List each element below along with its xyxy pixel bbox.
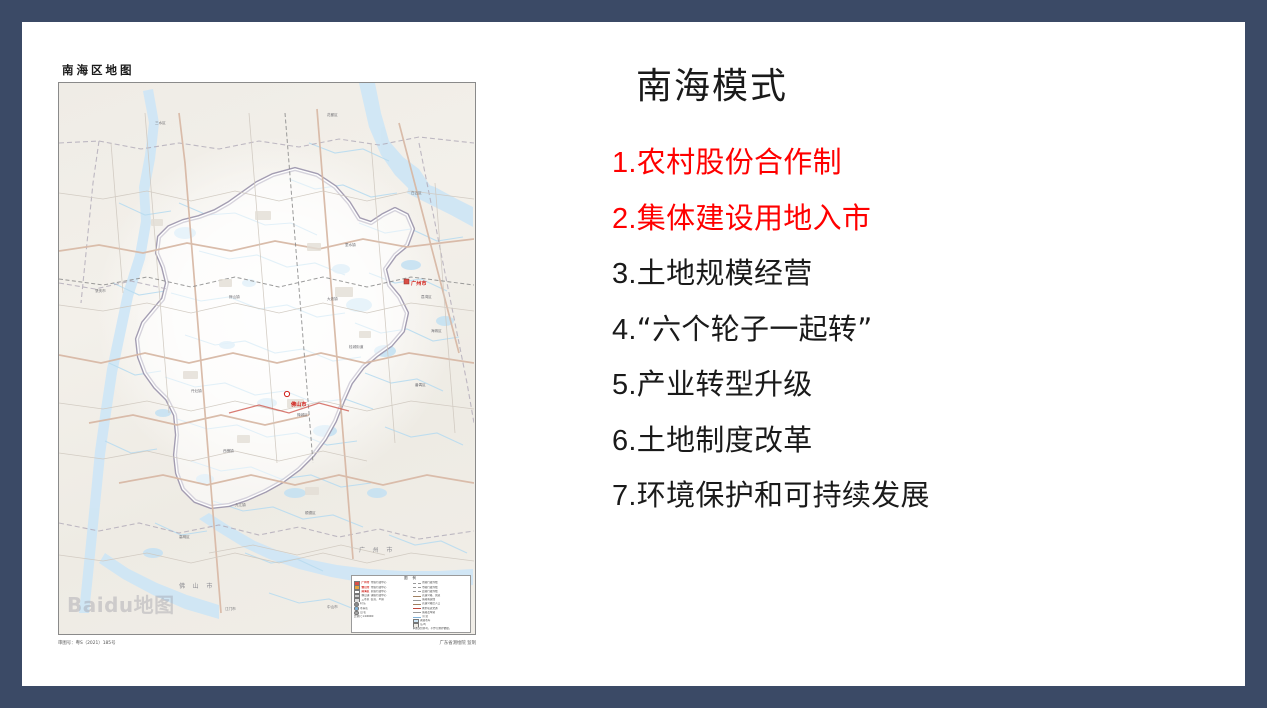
- legend-line-icon: [413, 600, 421, 601]
- list-item-label: 集体建设用地入市: [637, 201, 871, 235]
- map-place-label: 高明区: [179, 535, 190, 540]
- list-item: 7.环境保护和可持续发展: [612, 476, 1210, 516]
- map-place-label: 西樵镇: [223, 449, 234, 454]
- map-legend: 图 例 广州市 市级行政中心 佛山市 市级行政中心: [351, 575, 471, 633]
- map-city-label-guangzhou: 广州市: [411, 280, 427, 287]
- list-item-number: 4.: [612, 314, 637, 346]
- list-item-label: “六个轮子一起转”: [637, 312, 873, 346]
- legend-sublabel: 街道、乡镇: [371, 598, 384, 602]
- points-list: 1.农村股份合作制 2.集体建设用地入市 3.土地规模经营 4.“六个轮子一起转…: [590, 143, 1210, 516]
- list-item-label: 土地制度改革: [637, 423, 813, 457]
- map-place-label: 九江镇: [235, 503, 246, 508]
- map-place-label: 花都区: [327, 113, 338, 118]
- map-city-label-foshan: 佛山市: [291, 401, 307, 408]
- legend-line-icon: [413, 604, 421, 605]
- legend-line-icon: [413, 583, 421, 584]
- map-vector-layer: [59, 83, 474, 633]
- legend-scale-note: 比例尺 1:230000: [354, 615, 410, 619]
- map-place-label: 江门市: [225, 607, 236, 612]
- map-place-label: 肇庆市: [95, 289, 106, 294]
- map-place-label: 狮山镇: [229, 295, 240, 300]
- map-place-label: 禅城区: [297, 413, 308, 418]
- legend-right-column: 省级行政界线 市级行政界线 县级行政界线: [413, 581, 469, 631]
- list-item-number: 7.: [612, 480, 637, 512]
- map-place-label: 白云区: [411, 191, 422, 196]
- baidu-watermark: Baidu地图: [67, 589, 175, 618]
- legend-line-icon: [413, 608, 421, 609]
- map-publisher: 广东省测绘院 监制: [439, 640, 476, 646]
- list-item-number: 1.: [612, 147, 637, 179]
- map-region-label: 佛 山 市: [179, 581, 215, 590]
- list-item-number: 2.: [612, 203, 637, 235]
- map-footer: 审图号：粤S（2021）185号 广东省测绘院 监制: [58, 640, 476, 646]
- map-place-label: 中山市: [327, 605, 338, 610]
- list-item: 1.农村股份合作制: [612, 143, 1210, 183]
- map-figure-title: 南海区地图: [62, 62, 488, 78]
- map-place-label: 海珠区: [431, 329, 442, 334]
- map-place-label: 大沥镇: [327, 297, 338, 302]
- list-item-label: 环境保护和可持续发展: [637, 478, 930, 512]
- list-item: 3.土地规模经营: [612, 254, 1210, 294]
- list-item: 2.集体建设用地入市: [612, 199, 1210, 239]
- list-item-number: 6.: [612, 425, 637, 457]
- legend-line-icon: [413, 617, 421, 618]
- list-item: 6.土地制度改革: [612, 421, 1210, 461]
- map-region-label: 广 州 市: [359, 545, 395, 554]
- map-place-label: 三水区: [155, 121, 166, 126]
- map-place-label: 番禺区: [415, 383, 426, 388]
- legend-line-icon: [413, 591, 421, 592]
- list-item-number: 5.: [612, 369, 637, 401]
- list-item-label: 土地规模经营: [637, 256, 813, 290]
- list-item-label: 农村股份合作制: [637, 145, 842, 179]
- map-place-label: 荔湾区: [421, 295, 432, 300]
- page-title: 南海模式: [636, 64, 1210, 109]
- legend-line-icon: [413, 612, 421, 613]
- slide-canvas: 南海区地图: [22, 22, 1245, 686]
- list-item-number: 3.: [612, 258, 637, 290]
- legend-line-icon: [413, 596, 421, 597]
- map-place-label: 丹灶镇: [191, 389, 202, 394]
- map-place-label: 桂城街道: [349, 345, 363, 350]
- map-image[interactable]: 广州市 佛山市 三水区 花都区 白云区 荔湾区 海珠区 番禺区 肇庆市 高明区 …: [58, 82, 476, 635]
- map-place-label: 里水镇: [345, 243, 356, 248]
- legend-scale-label: 比例尺 1:230000: [354, 615, 373, 619]
- slide-frame: 南海区地图: [0, 0, 1267, 708]
- list-item-label: 产业转型升级: [637, 367, 813, 401]
- legend-left-column: 广州市 市级行政中心 佛山市 市级行政中心 南海区: [354, 581, 410, 631]
- list-item: 5.产业转型升级: [612, 365, 1210, 405]
- list-item: 4.“六个轮子一起转”: [612, 310, 1210, 350]
- map-approval-number: 审图号：粤S（2021）185号: [58, 640, 115, 646]
- legend-line-icon: [413, 587, 421, 588]
- legend-note: 本图仅供参考，不作为划界依据。: [413, 627, 469, 631]
- map-place-label: 顺德区: [305, 511, 316, 516]
- legend-note-label: 本图仅供参考，不作为划界依据。: [413, 627, 452, 631]
- content-column: 南海模式 1.农村股份合作制 2.集体建设用地入市 3.土地规模经营 4.“六个…: [590, 64, 1210, 654]
- map-figure: 南海区地图: [58, 62, 488, 662]
